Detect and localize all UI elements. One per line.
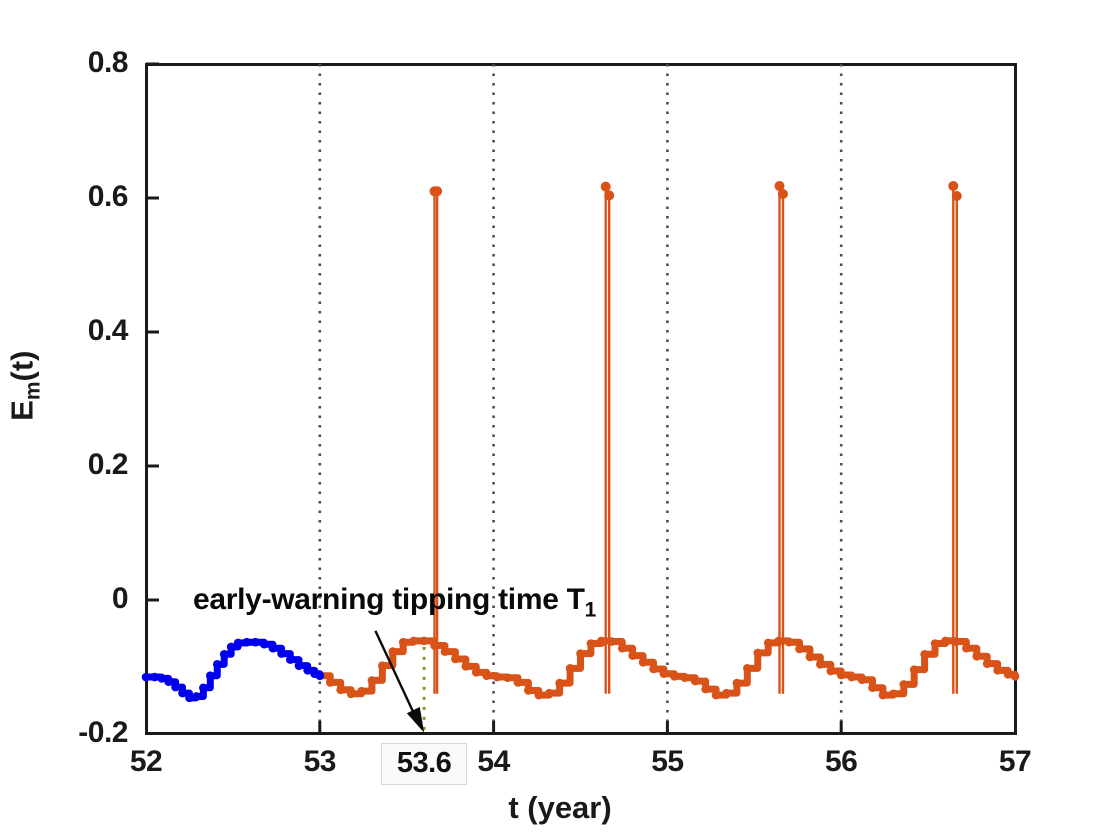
annotation-label-subscript: 1 [585,598,596,621]
x-tick-label-wrap-56: 56 [786,745,896,783]
y-axis-title-subscript: m [22,381,45,400]
y-axis-title-base: E [4,400,39,421]
plot-area [145,63,1017,735]
y-tick-label-wrap-0: 0 [0,582,128,616]
x-tick-label: 56 [786,745,896,779]
chart-figure: -0.200.20.40.60.8 525354555657 53.6 t (y… [0,0,1120,840]
plot-frame-right-border [1014,63,1017,735]
y-tick-label: 0 [0,582,128,616]
y-tick-label: 0.8 [0,46,128,80]
annotation-label-text: early-warning tipping time T [193,583,585,616]
x-tick-label: 57 [960,745,1070,779]
x-axis-title: t (year) [0,790,1120,826]
x-tick-label-wrap-55: 55 [612,745,722,783]
x-tick-label: 53 [265,745,375,779]
x-tick-label: 55 [612,745,722,779]
y-tick-label: 0.6 [0,180,128,214]
highlighted-xtick-label: 53.6 [381,747,467,780]
x-tick-label-wrap-57: 57 [960,745,1070,783]
annotation-label: early-warning tipping time T1 [193,583,596,622]
y-tick-label-wrap-0.6: 0.6 [0,180,128,214]
y-tick-label-wrap-0.8: 0.8 [0,46,128,80]
x-tick-label-wrap-53: 53 [265,745,375,783]
y-axis-title: Em(t) [4,286,45,486]
x-tick-label: 52 [91,745,201,779]
x-tick-label-wrap-52: 52 [91,745,201,783]
plot-frame-top-border [145,63,1017,66]
y-axis-title-tail: (t) [4,351,39,382]
